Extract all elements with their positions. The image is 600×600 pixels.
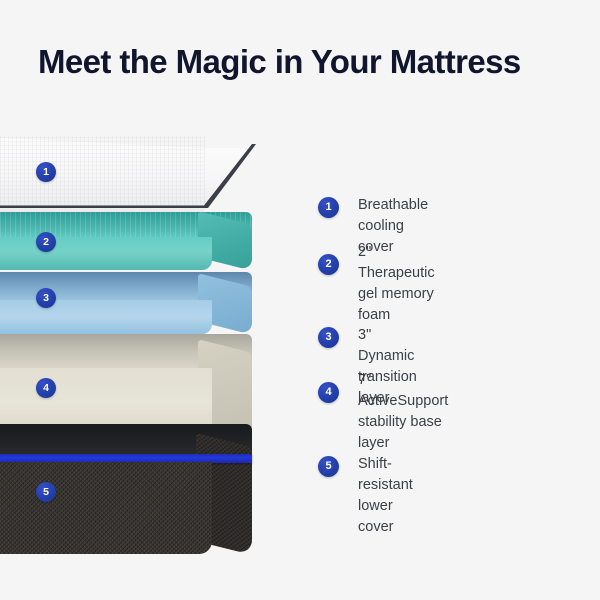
- infographic-page: Meet the Magic in Your Mattress: [0, 0, 600, 600]
- stack-badge-1: 1: [36, 162, 56, 182]
- stack-badge-3: 3: [36, 288, 56, 308]
- gel-foam-front-face: [0, 237, 212, 270]
- legend-badge-5: 5: [318, 456, 339, 477]
- lower-cover-weave: [0, 462, 212, 554]
- legend-label-4: 7" ActiveSupport stability base layer: [358, 370, 448, 454]
- legend-label-5: Shift-resistant lower cover: [358, 454, 413, 538]
- legend-badge-3: 3: [318, 327, 339, 348]
- stack-badge-4: 4: [36, 378, 56, 398]
- legend-label-2: 2" Therapeutic gel memory foam: [358, 242, 435, 326]
- legend-badge-4: 4: [318, 382, 339, 403]
- legend-badge-1: 1: [318, 197, 339, 218]
- stack-badge-2: 2: [36, 232, 56, 252]
- legend-badge-2: 2: [318, 254, 339, 275]
- stack-badge-5: 5: [36, 482, 56, 502]
- page-title: Meet the Magic in Your Mattress: [38, 43, 521, 81]
- transition-front-face: [0, 300, 212, 334]
- lower-cover-front-face: [0, 462, 212, 554]
- cover-texture: [0, 136, 205, 206]
